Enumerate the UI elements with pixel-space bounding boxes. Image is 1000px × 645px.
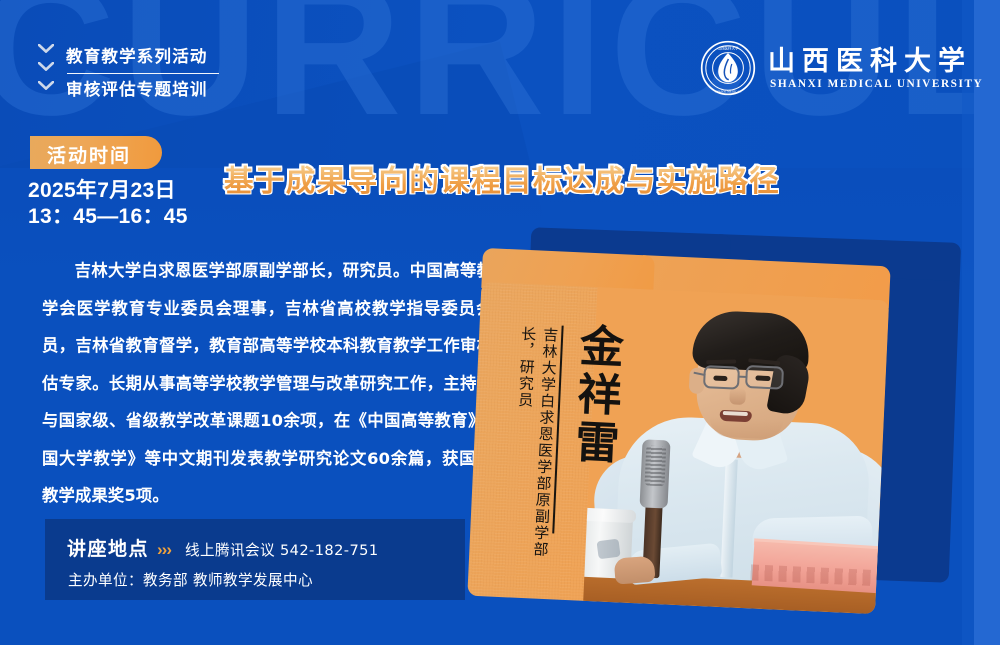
logo-name-en: SHANXI MEDICAL UNIVERSITY [770, 78, 983, 90]
chevron-stack [38, 44, 60, 102]
university-seal-icon: 山西医科大学 SHANXI MEDICAL [700, 40, 756, 96]
speaker-bio: 吉林大学白求恩医学部原副学部长，研究员。中国高等教育学会医学教育专业委员会理事，… [42, 252, 510, 515]
header-series-labels: 教育教学系列活动 审核评估专题培训 [66, 44, 336, 103]
speaker-card-stack: 金祥雷 吉林大学白求恩医学部原副学部长，研究员 [455, 215, 1000, 615]
venue-row: 讲座地点 ››› 线上腾讯会议 542-182-751 [67, 534, 379, 561]
chevron-down-icon [38, 44, 54, 53]
speaker-name: 金祥雷 [569, 322, 619, 468]
speaker-photo-card: 金祥雷 吉林大学白求恩医学部原副学部长，研究员 [467, 248, 890, 614]
svg-text:SHANXI MEDICAL: SHANXI MEDICAL [715, 90, 742, 94]
logo-name-cn: 山西医科大学 [768, 39, 972, 78]
event-time-range: 13：45—16：45 [28, 204, 288, 230]
chevron-down-icon [38, 62, 54, 71]
triple-chevron-right-icon: ››› [157, 540, 171, 560]
venue-info-box: 讲座地点 ››› 线上腾讯会议 542-182-751 主办单位：教务部 教师教… [45, 519, 465, 600]
page-title: 基于成果导向的课程目标达成与实施路径 [224, 158, 780, 200]
speaker-title: 吉林大学白求恩医学部原副学部长，研究员 [504, 325, 561, 577]
venue-value: 线上腾讯会议 542-182-751 [185, 539, 379, 560]
header-line-1: 教育教学系列活动 [66, 44, 336, 70]
poster-canvas: CURRICULUM 教育教学系列活动 审核评估专题培训 [0, 0, 1000, 645]
venue-label: 讲座地点 [67, 534, 149, 561]
header-divider [67, 73, 219, 74]
event-time-badge: 活动时间 [30, 136, 162, 169]
organizer-text: 主办单位：教务部 教师教学发展中心 [68, 569, 313, 590]
university-logo: 山西医科大学 SHANXI MEDICAL 山西医科大学 SHANXI MEDI… [700, 38, 978, 100]
chevron-down-icon [38, 81, 54, 90]
speaker-photo [583, 287, 889, 614]
header-line-2: 审核评估专题培训 [66, 77, 336, 103]
event-time-badge-label: 活动时间 [47, 141, 131, 168]
svg-text:山西医科大学: 山西医科大学 [718, 46, 739, 51]
